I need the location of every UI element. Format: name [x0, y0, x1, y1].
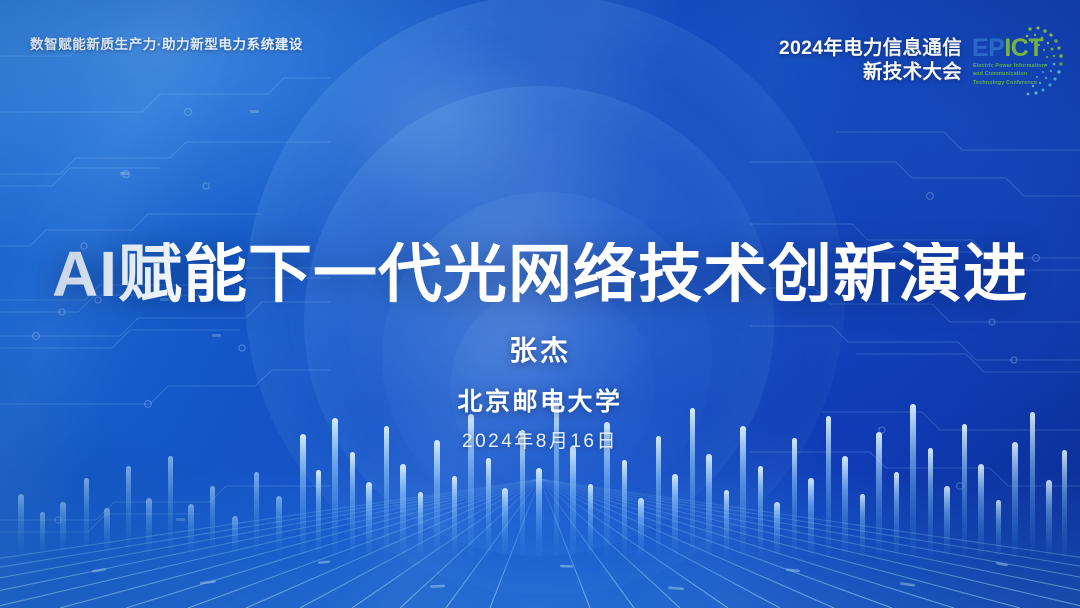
presentation-title-slide: 数智赋能新质生产力·助力新型电力系统建设 2024年电力信息通信 新技术大会 [0, 0, 1080, 608]
speaker-name: 张杰 [0, 334, 1080, 368]
floor-glow [0, 473, 1080, 608]
epict-wordmark-ict: ICT [1004, 34, 1043, 62]
presentation-date: 2024年8月16日 [0, 431, 1080, 454]
conference-title-line2: 新技术大会 [779, 61, 962, 85]
epict-wordmark-ep: EP [972, 34, 1004, 62]
slide-slogan: 数智赋能新质生产力·助力新型电力系统建设 [30, 33, 303, 53]
epict-logo-subtitle: Electric Power Information and Communica… [973, 62, 1047, 87]
epict-logo: EPICT Electric Power Information and Com… [970, 22, 1062, 100]
speaker-organization: 北京邮电大学 [0, 387, 1080, 417]
perspective-floor-grid [0, 473, 1080, 608]
slide-title: AI赋能下一代光网络技术创新演进 [0, 242, 1080, 306]
conference-title-line1: 2024年电力信息通信 [779, 37, 962, 61]
epict-logo-wordmark: EPICT [972, 36, 1043, 61]
sphere-highlight [331, 26, 561, 216]
conference-branding: 2024年电力信息通信 新技术大会 [779, 22, 1062, 100]
sphere-ring-second [304, 86, 774, 556]
speaker-info: 张杰 北京邮电大学 2024年8月16日 [0, 334, 1080, 453]
conference-title: 2024年电力信息通信 新技术大会 [779, 37, 962, 85]
